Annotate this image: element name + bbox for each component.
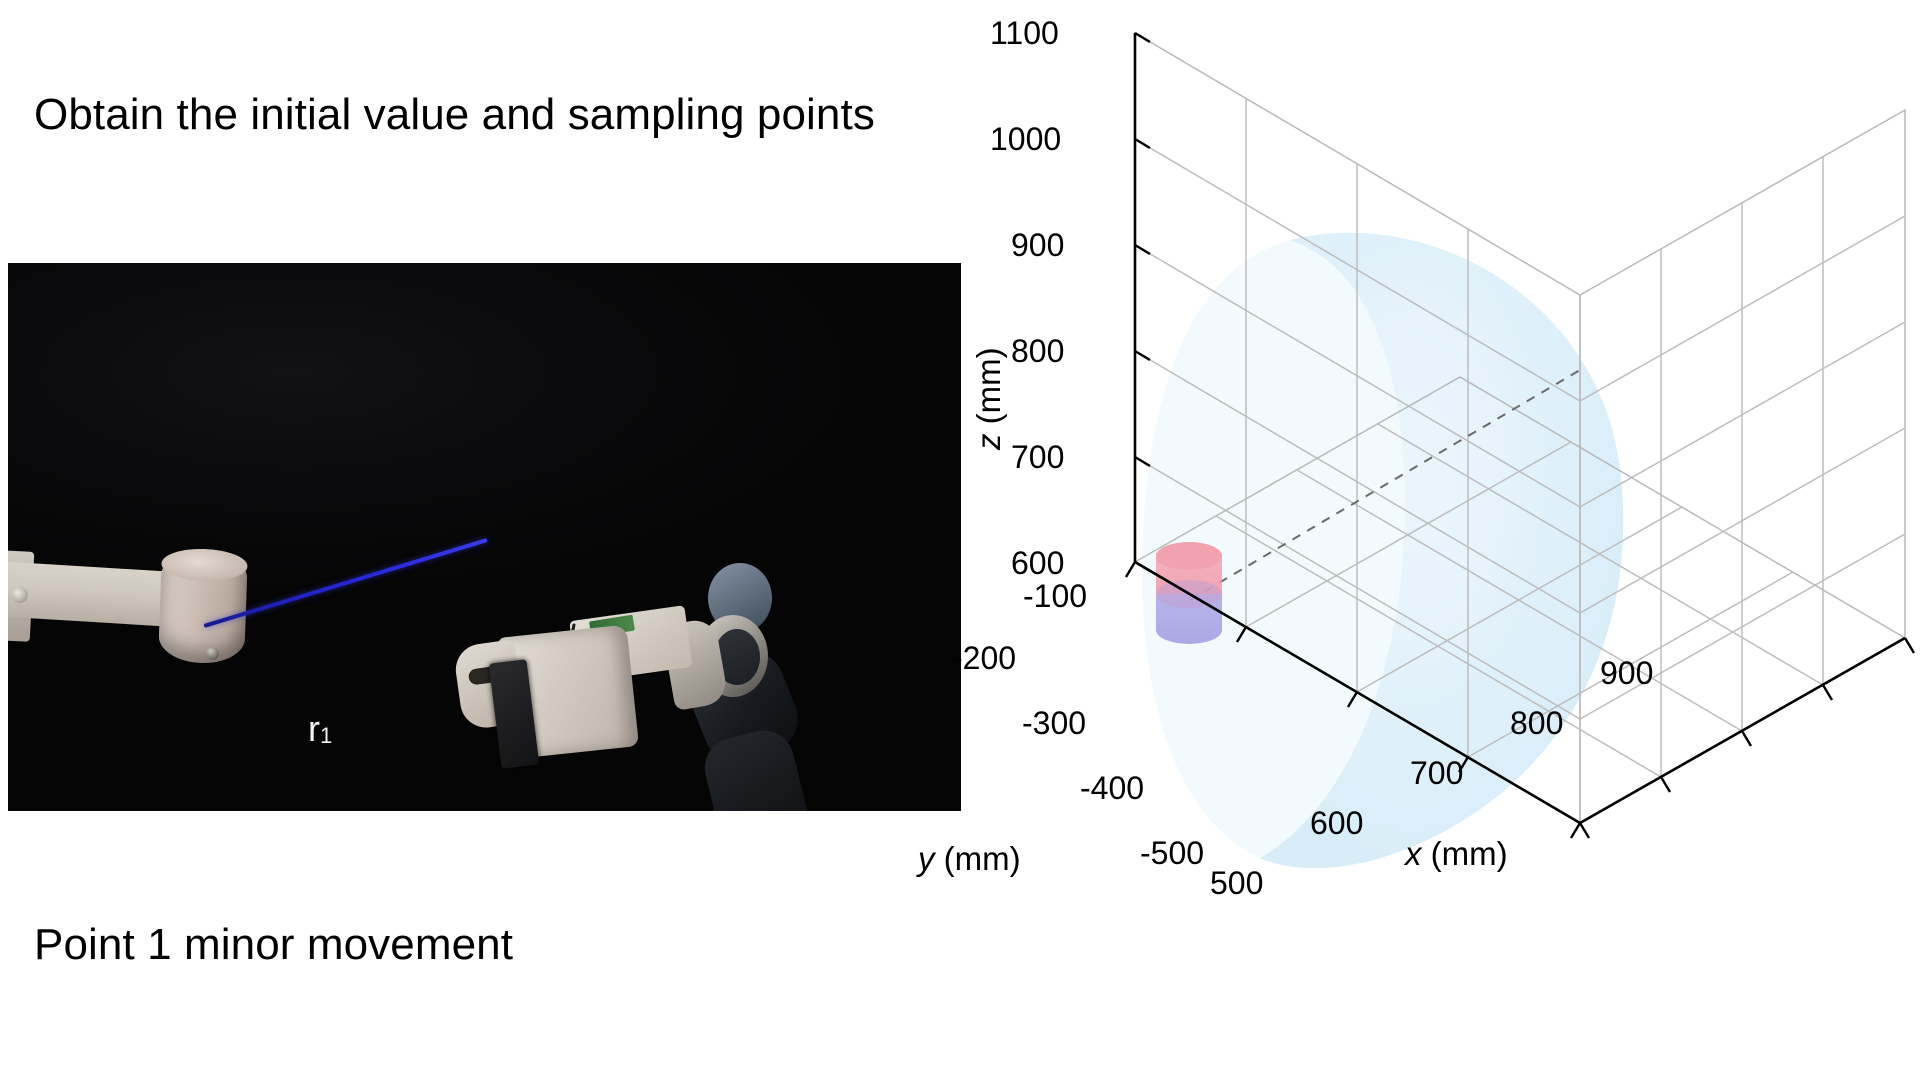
z-tick-1100: 1100 [990,15,1059,52]
slide-caption: Point 1 minor movement [34,920,513,970]
z-axis-label: z (mm) [970,347,1008,450]
beam-label: r1 [308,708,332,750]
z-tick-900: 900 [1011,227,1064,264]
z-tick-700: 700 [1011,439,1064,476]
fixture-bolt [12,587,28,603]
z-tick-800: 800 [1011,333,1064,370]
y-tick--200: -200 [952,640,1016,677]
slide-root: Obtain the initial value and sampling po… [0,0,1920,1080]
three-d-plot: 1100 1000 900 800 700 600 z (mm) -100 -2… [960,0,1920,1080]
beam-label-text: r [308,708,320,749]
x-tick-800: 800 [1510,705,1563,742]
z-tick-600: 600 [1011,545,1064,582]
beam-label-subscript: 1 [320,723,332,748]
y-tick--400: -400 [1080,770,1144,807]
x-tick-900: 900 [1600,655,1653,692]
x-tick-500: 500 [1210,865,1263,902]
retroreflector-target [158,550,248,665]
y-tick--500: -500 [1140,835,1204,872]
plot-canvas [960,0,1920,1080]
z-tick-1000: 1000 [990,121,1061,158]
robot-photo-panel: r1 [8,263,961,811]
photo-background [8,263,961,811]
y-tick--100: -100 [1023,578,1087,615]
x-axis-label: x (mm) [1405,835,1508,873]
page-title: Obtain the initial value and sampling po… [34,90,875,140]
x-tick-700: 700 [1410,755,1463,792]
x-tick-600: 600 [1310,805,1363,842]
y-axis-label: y (mm) [918,840,1021,878]
y-tick--300: -300 [1022,705,1086,742]
target-screw [206,647,219,660]
